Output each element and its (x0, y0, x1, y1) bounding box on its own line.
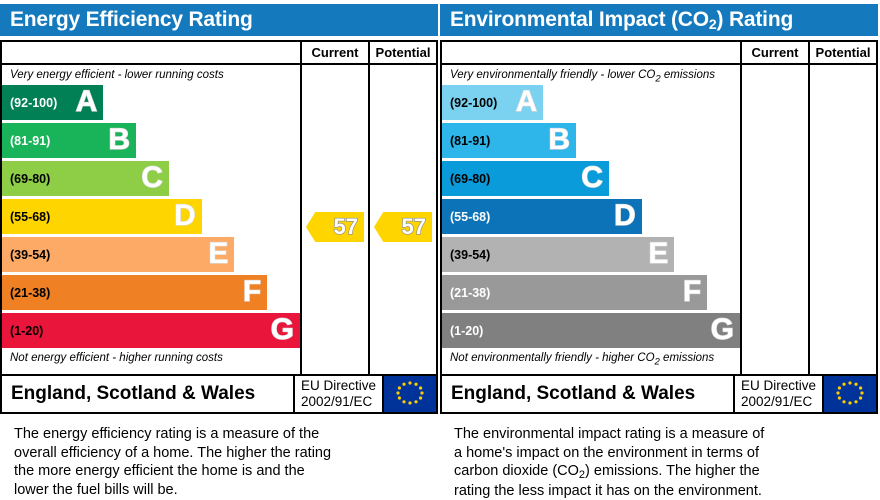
energy-description-line2: overall efficiency of a home. The higher… (14, 444, 430, 463)
environmental-impact-chart: Environmental Impact (CO2) Rating Curren… (440, 0, 878, 500)
band-row-e: (39-54) E (442, 237, 740, 272)
bands-column: Very environmentally friendly - lower CO… (442, 65, 740, 374)
bands-column: Very energy efficient - lower running co… (2, 65, 300, 374)
band-row-a: (92-100) A (442, 85, 740, 120)
energy-efficiency-chart: Energy Efficiency Rating Current Potenti… (0, 0, 438, 499)
band-letter-a: A (76, 87, 98, 117)
environmental-description-line2: a home's impact on the environment in te… (454, 444, 870, 463)
current-rating-column (740, 65, 808, 374)
header-current: Current (740, 42, 808, 63)
bottom-note: Not energy efficient - higher running co… (2, 348, 300, 368)
potential-rating-column: 57 (368, 65, 436, 374)
band-range-b: (81-91) (10, 134, 50, 148)
environmental-footer: England, Scotland & Wales EU Directive 2… (440, 376, 878, 414)
table-body: Very energy efficient - lower running co… (2, 65, 436, 374)
band-row-g: (1-20) G (442, 313, 740, 348)
band-range-g: (1-20) (450, 324, 483, 338)
band-letter-d: D (174, 201, 196, 231)
environmental-impact-title: Environmental Impact (CO2) Rating (440, 4, 878, 36)
footer-directive: EU Directive 2002/91/EC (293, 376, 382, 412)
footer-directive: EU Directive 2002/91/EC (733, 376, 822, 412)
bottom-note-a: Not environmentally friendly - higher CO (450, 352, 655, 364)
band-range-f: (21-38) (10, 286, 50, 300)
band-row-a: (92-100) A (2, 85, 300, 120)
environmental-description: The environmental impact rating is a mea… (440, 425, 878, 500)
band-bar-f: (21-38) F (2, 275, 267, 310)
band-range-a: (92-100) (10, 96, 57, 110)
band-row-b: (81-91) B (2, 123, 300, 158)
epc-certificate-page: Energy Efficiency Rating Current Potenti… (0, 0, 880, 493)
energy-description-line1: The energy efficiency rating is a measur… (14, 425, 430, 444)
energy-efficiency-title: Energy Efficiency Rating (0, 4, 438, 36)
environmental-description-line1: The environmental impact rating is a mea… (454, 425, 870, 444)
current-rating-column: 57 (300, 65, 368, 374)
footer-region-label: England, Scotland & Wales (442, 376, 733, 412)
band-row-e: (39-54) E (2, 237, 300, 272)
table-body: Very environmentally friendly - lower CO… (442, 65, 876, 374)
band-row-b: (81-91) B (442, 123, 740, 158)
table-header-row: Current Potential (2, 42, 436, 65)
band-row-g: (1-20) G (2, 313, 300, 348)
band-letter-c: C (581, 163, 603, 193)
band-range-f: (21-38) (450, 286, 490, 300)
potential-rating-arrow-wrap: 57 (374, 212, 432, 242)
footer-region-label: England, Scotland & Wales (2, 376, 293, 412)
band-bar-c: (69-80) C (2, 161, 169, 196)
band-bar-d: (55-68) D (442, 199, 642, 234)
band-list: (92-100) A (81-91) B (69 (2, 85, 300, 348)
environmental-impact-title-prefix: Environmental Impact (CO (450, 8, 709, 31)
energy-description: The energy efficiency rating is a measur… (0, 425, 438, 499)
band-range-c: (69-80) (10, 172, 50, 186)
energy-efficiency-table: Current Potential Very energy efficient … (0, 40, 438, 376)
band-row-d: (55-68) D (2, 199, 300, 234)
band-range-b: (81-91) (450, 134, 490, 148)
band-letter-f: F (683, 277, 701, 307)
environmental-impact-title-sub: 2 (709, 16, 717, 32)
band-bar-f: (21-38) F (442, 275, 707, 310)
band-range-e: (39-54) (10, 248, 50, 262)
header-bands-cell (2, 42, 300, 63)
band-letter-g: G (711, 315, 734, 345)
footer-directive-line2: 2002/91/EC (741, 394, 816, 410)
eu-flag-icon (382, 376, 436, 412)
band-range-d: (55-68) (10, 210, 50, 224)
top-note: Very environmentally friendly - lower CO… (442, 65, 740, 85)
environmental-impact-title-suffix: ) Rating (717, 8, 794, 31)
environmental-description-line3sub: 2 (579, 469, 585, 481)
band-range-g: (1-20) (10, 324, 43, 338)
bottom-note-b: emissions (660, 352, 714, 364)
energy-description-line4: lower the fuel bills will be. (14, 481, 430, 500)
band-row-c: (69-80) C (442, 161, 740, 196)
environmental-impact-table: Current Potential Very environmentally f… (440, 40, 878, 376)
current-rating-arrow-wrap: 57 (306, 212, 364, 242)
band-row-d: (55-68) D (442, 199, 740, 234)
band-bar-d: (55-68) D (2, 199, 202, 234)
top-note-b: emissions (661, 69, 715, 81)
footer-directive-line1: EU Directive (301, 378, 376, 394)
band-range-d: (55-68) (450, 210, 490, 224)
footer-directive-line2: 2002/91/EC (301, 394, 376, 410)
top-note-a: Very environmentally friendly - lower CO (450, 69, 655, 81)
environmental-description-line3: carbon dioxide (CO2) emissions. The high… (454, 462, 870, 482)
band-letter-e: E (208, 239, 228, 269)
band-letter-d: D (614, 201, 636, 231)
top-note: Very energy efficient - lower running co… (2, 65, 300, 85)
band-letter-b: B (108, 125, 130, 155)
band-list: (92-100) A (81-91) B (69 (442, 85, 740, 348)
band-row-c: (69-80) C (2, 161, 300, 196)
band-bar-a: (92-100) A (442, 85, 543, 120)
band-letter-a: A (516, 87, 538, 117)
footer-directive-line1: EU Directive (741, 378, 816, 394)
header-current: Current (300, 42, 368, 63)
table-header-row: Current Potential (442, 42, 876, 65)
band-row-f: (21-38) F (442, 275, 740, 310)
band-range-e: (39-54) (450, 248, 490, 262)
band-row-f: (21-38) F (2, 275, 300, 310)
band-range-c: (69-80) (450, 172, 490, 186)
band-letter-b: B (548, 125, 570, 155)
potential-rating-column (808, 65, 876, 374)
band-bar-c: (69-80) C (442, 161, 609, 196)
band-bar-e: (39-54) E (442, 237, 674, 272)
potential-rating-value: 57 (402, 216, 426, 238)
band-letter-e: E (648, 239, 668, 269)
band-range-a: (92-100) (450, 96, 497, 110)
band-bar-e: (39-54) E (2, 237, 234, 272)
energy-footer: England, Scotland & Wales EU Directive 2… (0, 376, 438, 414)
environmental-description-line3b: ) emissions. The higher the (585, 463, 760, 479)
band-letter-f: F (243, 277, 261, 307)
current-rating-arrow: 57 (306, 212, 364, 242)
environmental-description-line3a: carbon dioxide (CO (454, 463, 579, 479)
band-letter-c: C (141, 163, 163, 193)
band-bar-a: (92-100) A (2, 85, 103, 120)
band-bar-b: (81-91) B (442, 123, 576, 158)
band-bar-g: (1-20) G (2, 313, 300, 348)
energy-description-line3: the more energy efficient the home is an… (14, 462, 430, 481)
potential-rating-arrow: 57 (374, 212, 432, 242)
bottom-note: Not environmentally friendly - higher CO… (442, 348, 740, 368)
header-bands-cell (442, 42, 740, 63)
current-rating-value: 57 (334, 216, 358, 238)
band-bar-g: (1-20) G (442, 313, 740, 348)
band-letter-g: G (271, 315, 294, 345)
header-potential: Potential (808, 42, 876, 63)
eu-flag-icon (822, 376, 876, 412)
band-bar-b: (81-91) B (2, 123, 136, 158)
header-potential: Potential (368, 42, 436, 63)
environmental-description-line4: rating the less impact it has on the env… (454, 482, 870, 500)
energy-efficiency-title-text: Energy Efficiency Rating (10, 8, 253, 31)
